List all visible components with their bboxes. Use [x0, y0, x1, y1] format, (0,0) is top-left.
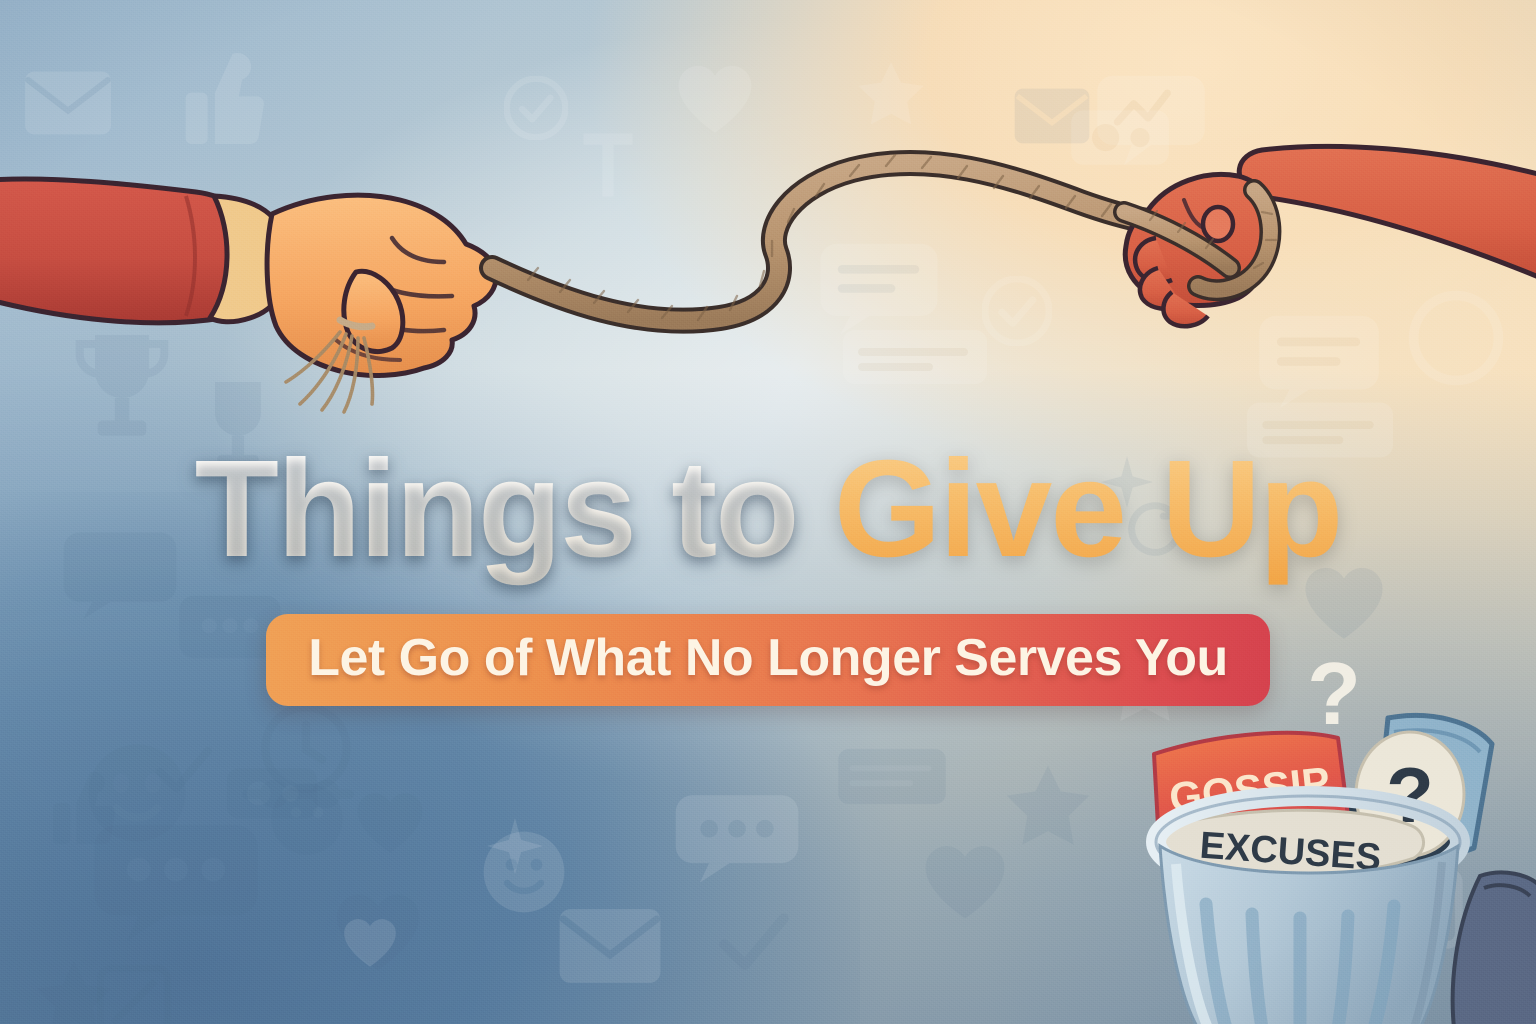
vignette-overlay [0, 0, 1536, 1024]
poster-canvas: Things to Give Up Let Go of What No Long… [0, 0, 1536, 1024]
